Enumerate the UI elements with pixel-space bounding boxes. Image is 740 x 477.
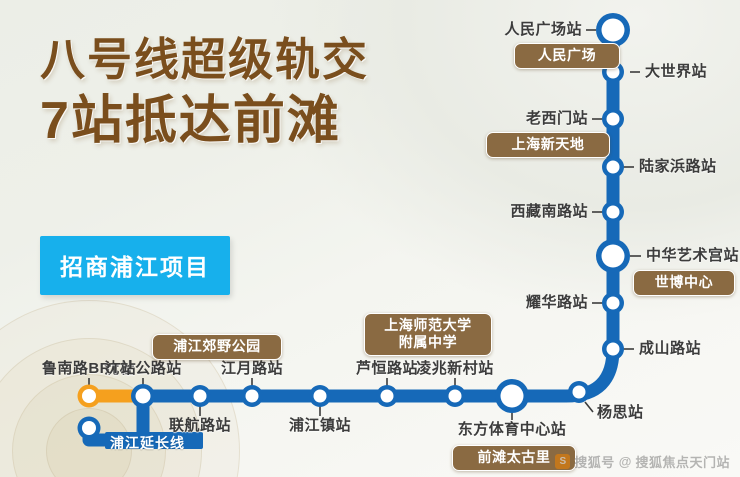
landmark-badge-shida-fuzhong: 上海师范大学 附属中学 bbox=[364, 313, 492, 356]
metro-line-poster: 八号线超级轨交 7站抵达前滩 招商浦江项目 bbox=[0, 0, 740, 477]
station-label-jiangyue-lu: 江月路站 bbox=[205, 360, 299, 377]
landmark-badge-xintiandi: 上海新天地 bbox=[486, 132, 610, 158]
station-label-chengshan-lu: 成山路站 bbox=[639, 340, 701, 357]
station-label-lianhang-lu: 联航路站 bbox=[153, 417, 247, 434]
station-label-pujiang-zhen: 浦江镇站 bbox=[273, 417, 367, 434]
station-label-lujiabang-lu: 陆家浜路站 bbox=[639, 158, 717, 175]
station-label-laoximen: 老西门站 bbox=[492, 110, 588, 127]
station-label-lunan-lu-brt: 鲁南路BRT站 bbox=[19, 360, 159, 377]
station-label-dongfang-tiyu-zhongxin: 东方体育中心站 bbox=[437, 421, 587, 438]
landmark-badge-renmin-guangchang: 人民广场 bbox=[514, 43, 620, 69]
landmark-badge-pujiang-jiaoye: 浦江郊野公园 bbox=[152, 334, 282, 360]
station-label-luheng-lu: 芦恒路站 bbox=[340, 360, 434, 377]
station-label-yangsi: 杨思站 bbox=[597, 404, 644, 421]
station-label-yaohua-lu: 耀华路站 bbox=[492, 294, 588, 311]
landmark-badge-shibo-zhongxin: 世博中心 bbox=[633, 270, 735, 296]
landmark-badge-qiantan-taikooli: 前滩太古里 bbox=[452, 445, 576, 471]
station-label-zhonghua-yishugong: 中华艺术宫站 bbox=[646, 247, 739, 264]
station-label-renmin-guangchang: 人民广场站 bbox=[486, 21, 582, 38]
extension-line-label: 浦江延长线 bbox=[110, 433, 185, 453]
station-label-dashijie: 大世界站 bbox=[645, 63, 707, 80]
station-label-xizang-nanlu: 西藏南路站 bbox=[477, 203, 588, 220]
